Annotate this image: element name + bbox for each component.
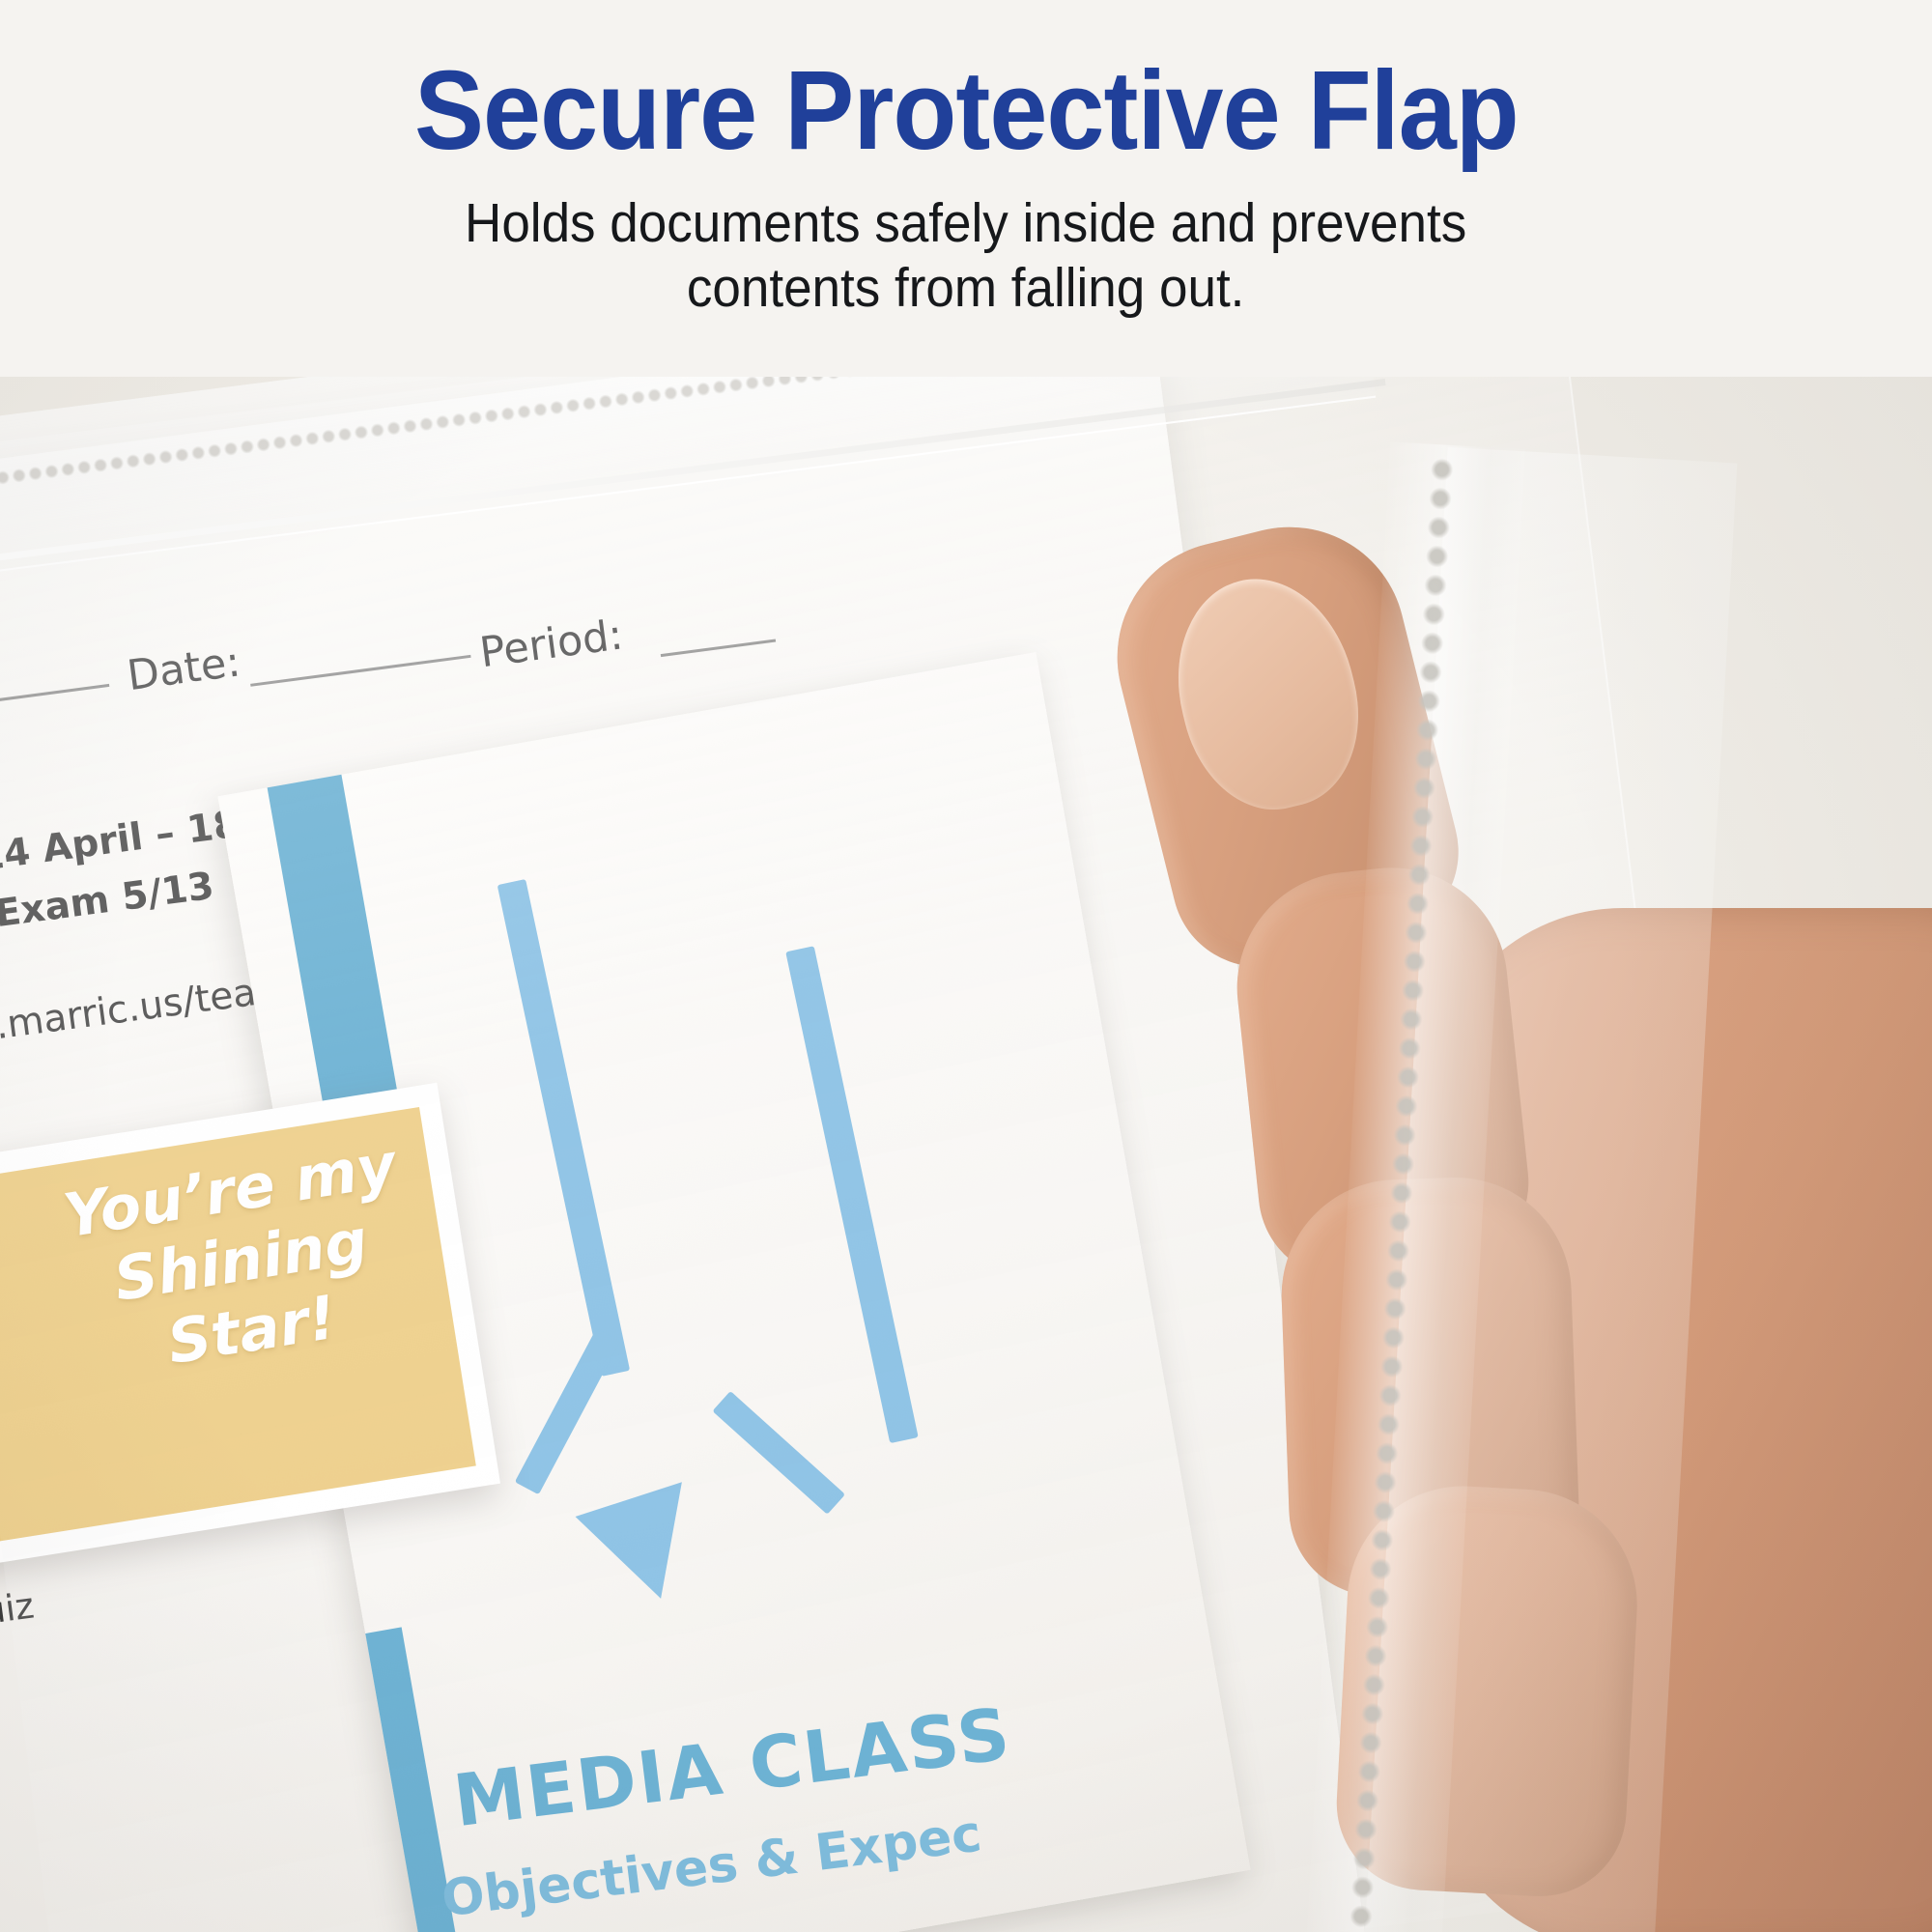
pencil-taper-left-icon (515, 1328, 620, 1494)
period-label: Period: (477, 611, 626, 677)
period-blank-line (661, 639, 776, 657)
header-banner: Secure Protective Flap Holds documents s… (0, 0, 1932, 377)
page-subtitle: Holds documents safely inside and preven… (465, 191, 1466, 322)
pencil-right-shaft-icon (785, 946, 918, 1443)
name-blank-line (0, 684, 109, 728)
pencil-tip-icon (576, 1482, 715, 1616)
exam-text: logy Exam 5/13 (0, 865, 216, 950)
subtitle-line-2: contents from falling out. (465, 256, 1466, 321)
page-title: Secure Protective Flap (414, 54, 1519, 166)
quiz-text: uiz (0, 1584, 37, 1633)
date-label: Date: (125, 638, 243, 700)
pencil-taper-right-icon (712, 1391, 845, 1515)
date-blank-line (250, 655, 470, 687)
pencil-left-shaft-icon (497, 879, 630, 1377)
subtitle-line-1: Holds documents safely inside and preven… (465, 191, 1466, 256)
star-card-text: You’re my Shining Star! (59, 1129, 422, 1391)
